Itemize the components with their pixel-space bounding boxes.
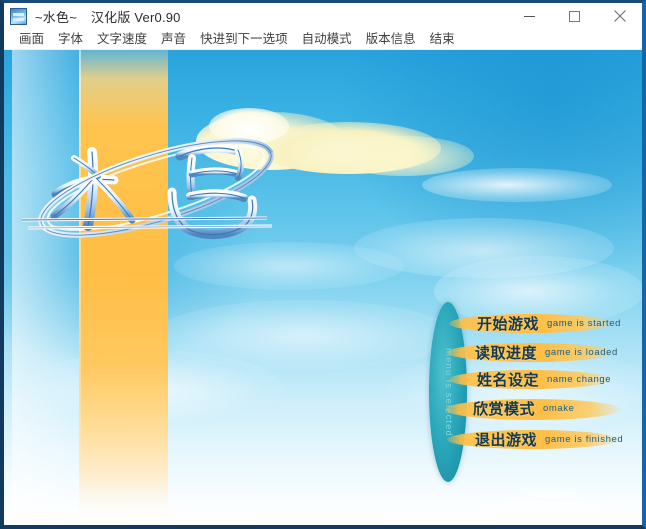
app-icon[interactable] [10,8,27,25]
menu-item-font[interactable]: 字体 [51,29,90,50]
cloud-wisp-upper-right [422,168,612,202]
menu-item-display[interactable]: 画面 [12,29,51,50]
menu-option-load-game-en: game is loaded [545,347,618,358]
footer-logo-cn: 水色汉化组 [88,522,180,525]
window-controls [507,3,642,29]
menu-item-skip-to-next-choice[interactable]: 快进到下一选项 [193,29,295,50]
menu-bar: 画面 字体 文字速度 声音 快进到下一选项 自动模式 版本信息 结束 [4,29,642,50]
menu-option-name-change[interactable]: 姓名设定 name change [449,366,611,392]
maximize-button[interactable] [552,3,597,29]
title-bar[interactable]: ~水色~汉化版 Ver0.90 [4,3,642,29]
menu-option-start-game-label: 开始游戏 [477,313,539,334]
menu-option-name-change-label: 姓名设定 [477,369,539,390]
menu-option-load-game[interactable]: 读取进度 game is loaded [447,339,618,365]
menu-option-exit-game[interactable]: 退出游戏 game is finished [447,426,623,452]
footer-logo: 水色汉化组 NEKONEKO SOFT [88,522,180,525]
main-menu-panel: menu is selected 开始游戏 game is started 读取… [429,302,629,482]
cloud-cumulus-c [334,136,474,176]
close-button[interactable] [597,3,642,29]
orange-band-highlight [79,50,81,459]
menu-option-name-change-en: name change [547,374,611,385]
menu-option-load-game-label: 读取进度 [475,342,537,363]
menu-option-omake-en: omake [543,403,575,414]
window-title-version: 汉化版 Ver0.90 [91,10,181,25]
menu-item-text-speed[interactable]: 文字速度 [90,29,154,50]
window-title: ~水色~汉化版 Ver0.90 [35,7,181,26]
menu-options-list: 开始游戏 game is started 读取进度 game is loaded… [449,302,629,482]
maximize-icon [569,11,580,22]
application-window: ~水色~汉化版 Ver0.90 画面 字体 文字速度 声音 [0,0,646,529]
window-title-name: ~水色~ [35,10,77,25]
cloud-wisp-bottom-1 [464,498,614,514]
cloud-wisp-bottom-2 [504,490,594,500]
menu-option-start-game-en: game is started [547,318,621,329]
game-canvas[interactable]: menu is selected 开始游戏 game is started 读取… [4,50,642,525]
menu-option-exit-game-en: game is finished [545,434,623,445]
menu-option-start-game[interactable]: 开始游戏 game is started [449,310,621,336]
menu-option-omake[interactable]: 欣赏模式 omake [445,395,575,421]
menu-item-auto-mode[interactable]: 自动模式 [295,29,359,50]
title-logo [22,122,290,250]
close-icon [614,10,626,22]
menu-option-omake-label: 欣赏模式 [473,398,535,419]
menu-option-exit-game-label: 退出游戏 [475,429,537,450]
menu-item-exit[interactable]: 结束 [423,29,462,50]
menu-item-version-info[interactable]: 版本信息 [359,29,423,50]
minimize-button[interactable] [507,3,552,29]
minimize-icon [524,11,535,22]
menu-item-sound[interactable]: 声音 [154,29,193,50]
